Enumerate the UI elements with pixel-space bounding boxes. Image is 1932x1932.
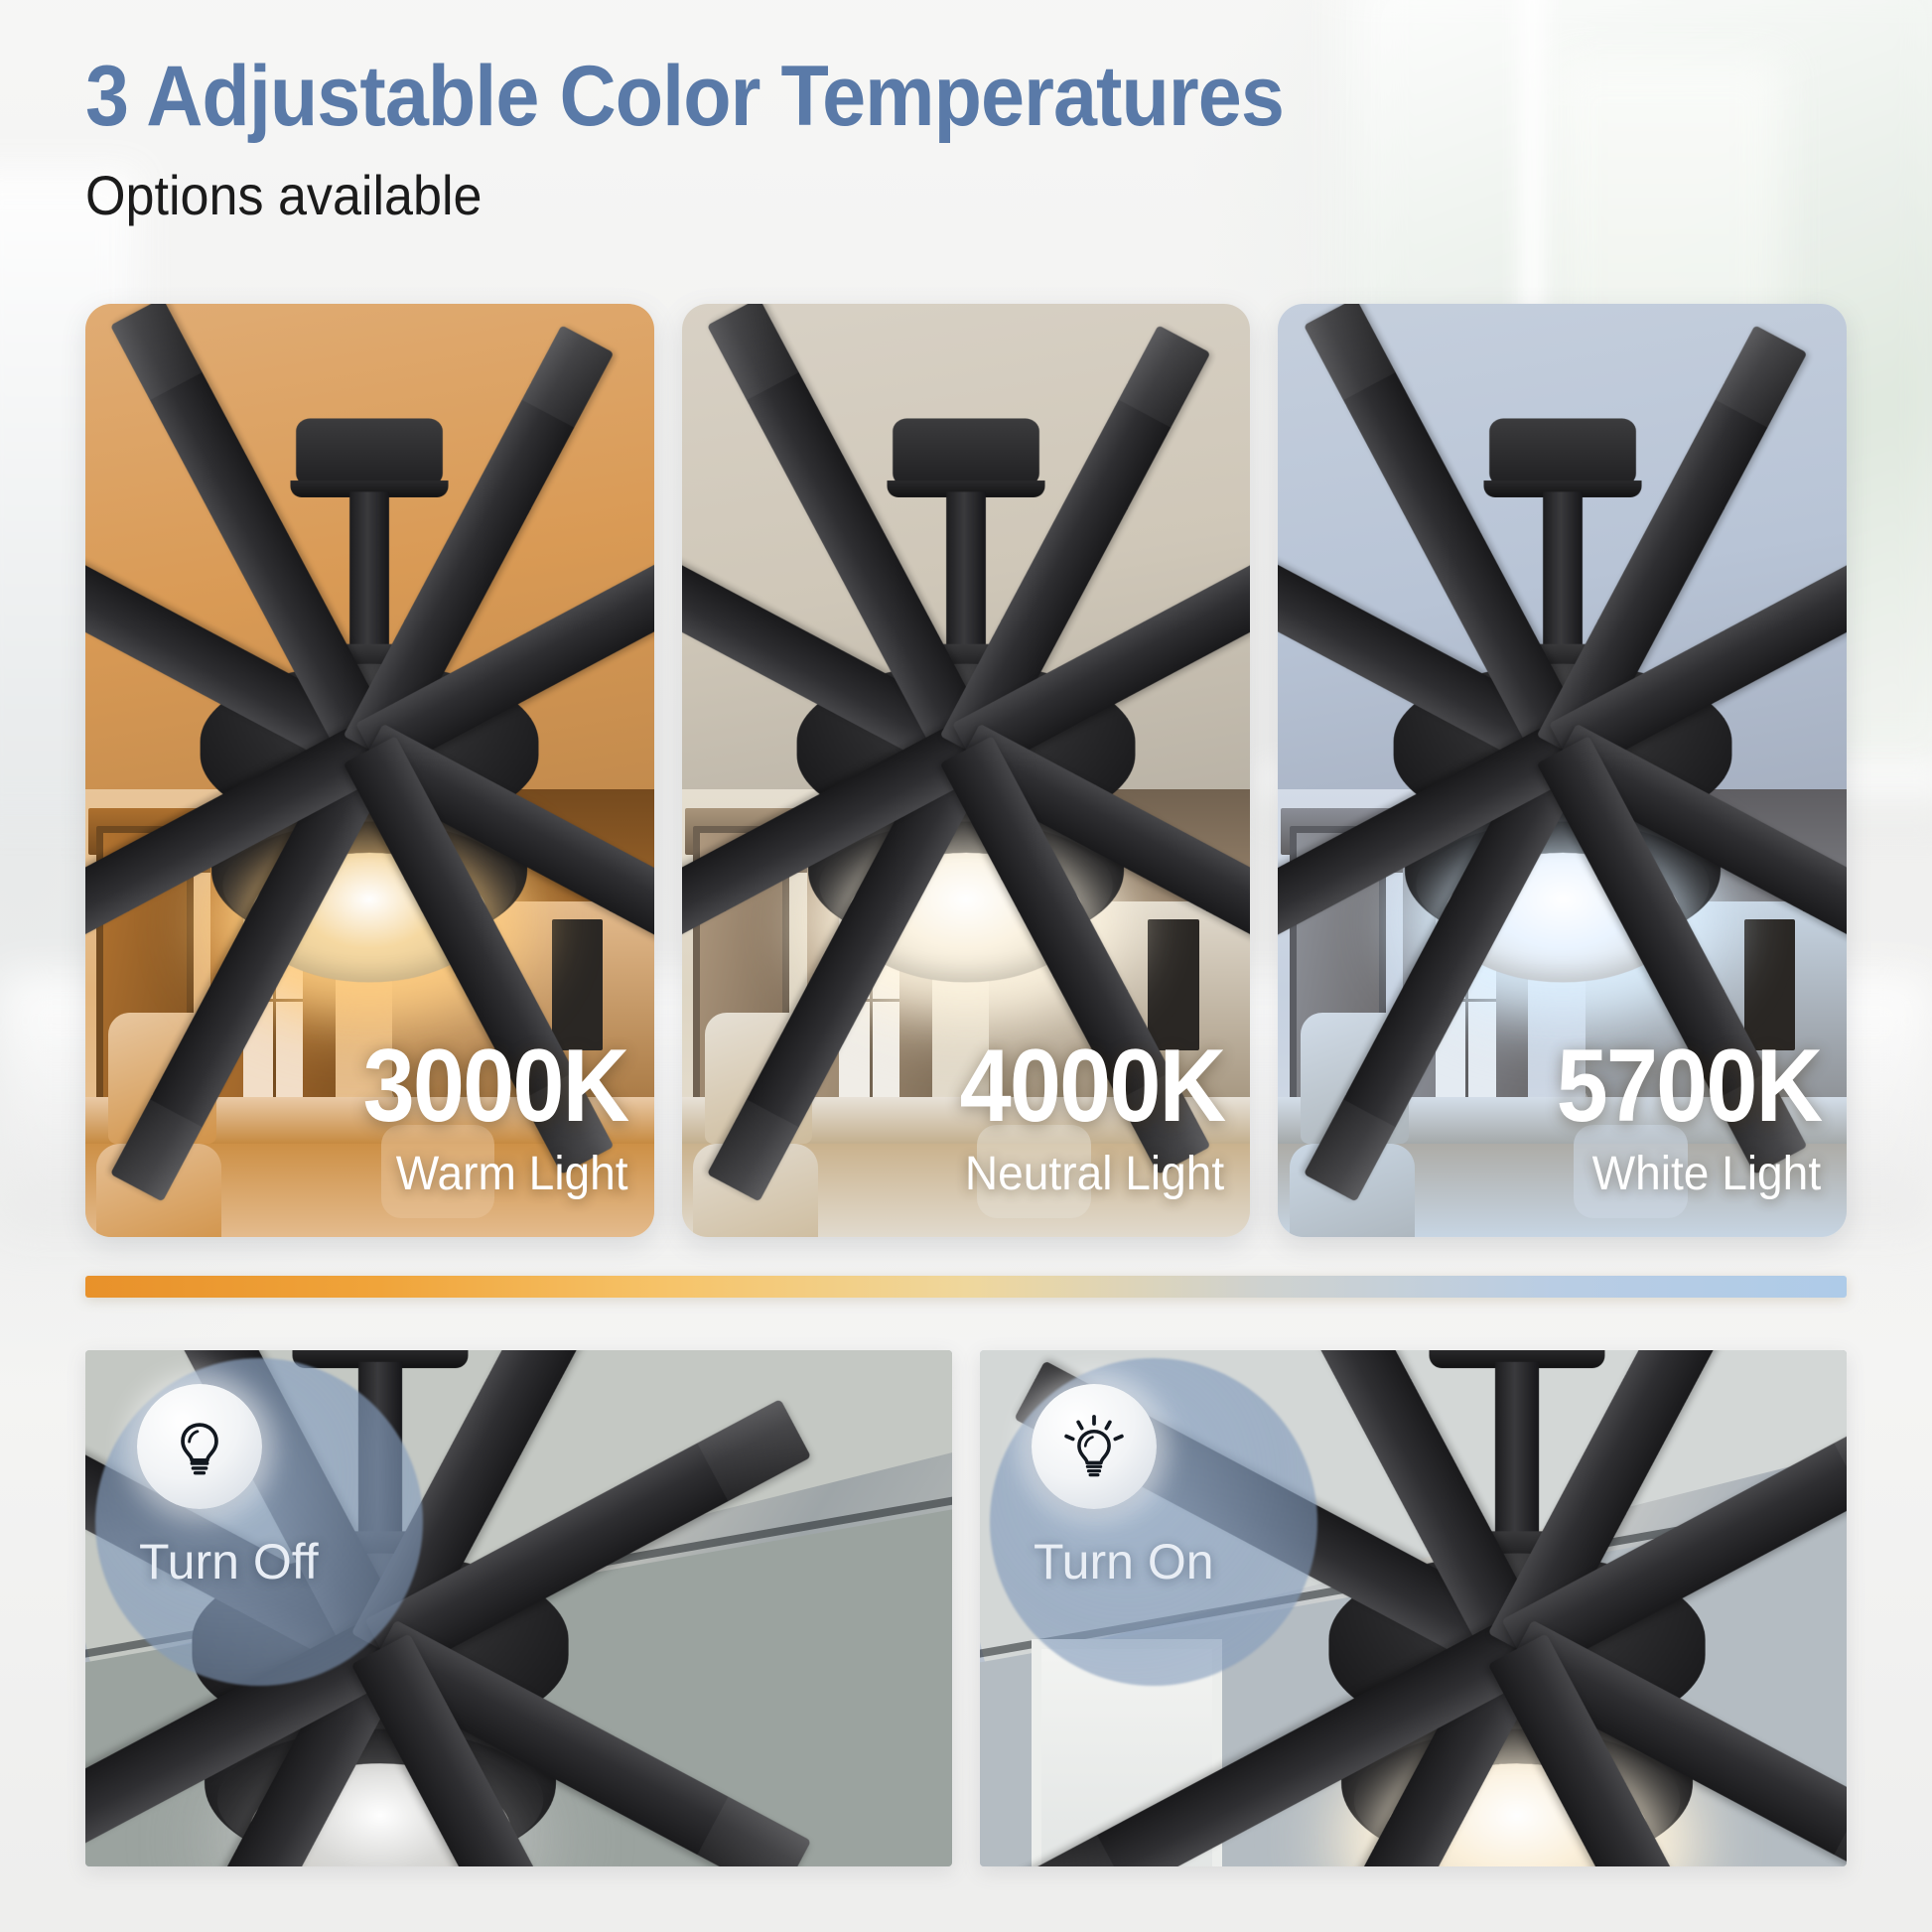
fan-ceiling-mount: [1489, 418, 1636, 485]
fan-ceiling-mount: [893, 418, 1039, 485]
badge-label: Turn Off: [139, 1533, 457, 1590]
card-caption: 5700KWhite Light: [1278, 901, 1847, 1237]
kelvin-value: 5700K: [1556, 1037, 1821, 1137]
kelvin-value: 3000K: [363, 1037, 628, 1137]
header: 3 Adjustable Color Temperatures Options …: [0, 0, 1932, 227]
control-panel-off: Turn Off: [85, 1350, 952, 1866]
badge-backdrop: [95, 1358, 423, 1686]
lightbulb-off-icon: [165, 1412, 234, 1481]
control-panel-row: Turn OffTurn On: [85, 1350, 1847, 1866]
fan-ceiling-mount: [296, 418, 443, 485]
kelvin-label: Warm Light: [396, 1147, 628, 1201]
page-title: 3 Adjustable Color Temperatures: [85, 52, 1784, 141]
temperature-card-row: 3000KWarm Light4000KNeutral Light5700KWh…: [85, 304, 1847, 1237]
lightbulb-on-icon: [1059, 1412, 1129, 1481]
badge-backdrop: [990, 1358, 1317, 1686]
card-caption: 3000KWarm Light: [85, 901, 654, 1237]
fan-downrod: [1495, 1362, 1539, 1544]
temperature-card-3000k: 3000KWarm Light: [85, 304, 654, 1237]
kelvin-label: White Light: [1591, 1147, 1821, 1201]
card-caption: 4000KNeutral Light: [682, 901, 1251, 1237]
kelvin-value: 4000K: [960, 1037, 1225, 1137]
temperature-card-5700k: 5700KWhite Light: [1278, 304, 1847, 1237]
fan-downrod: [349, 491, 389, 655]
color-gradient-divider: [85, 1276, 1847, 1298]
control-panel-on: Turn On: [980, 1350, 1847, 1866]
fan-downrod: [946, 491, 986, 655]
page-subtitle: Options available: [85, 163, 1803, 227]
temperature-card-4000k: 4000KNeutral Light: [682, 304, 1251, 1237]
badge-button[interactable]: [1032, 1384, 1157, 1509]
kelvin-label: Neutral Light: [965, 1147, 1224, 1201]
badge-button[interactable]: [137, 1384, 262, 1509]
badge-label: Turn On: [1034, 1533, 1351, 1590]
fan-downrod: [1543, 491, 1583, 655]
